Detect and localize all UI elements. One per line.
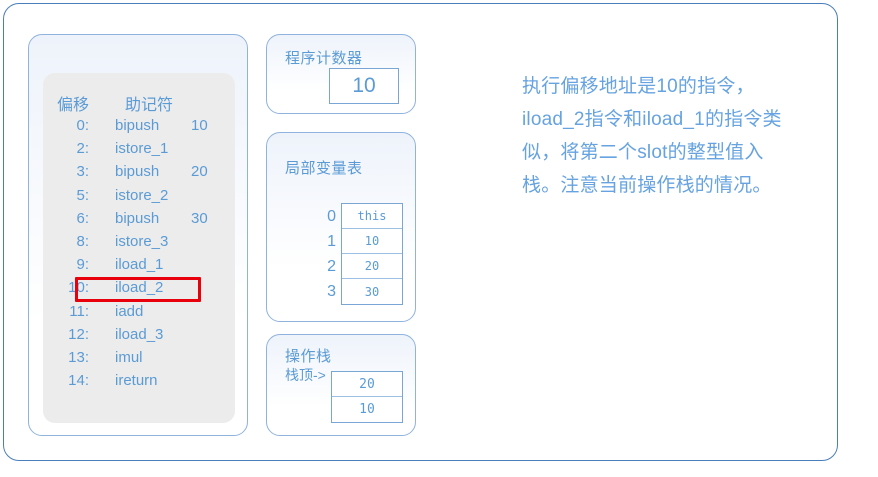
instruction-row[interactable]: 12:iload_3: [43, 326, 235, 349]
description-line: 栈。注意当前操作栈的情况。: [522, 169, 842, 202]
program-counter-panel: 程序计数器 10: [266, 34, 416, 114]
instruction-operand: 10: [191, 117, 208, 134]
instruction-mnemonic: bipush: [115, 163, 159, 180]
program-counter-title: 程序计数器: [285, 47, 363, 68]
local-variable-slot: 220: [342, 254, 402, 279]
instruction-row[interactable]: 9:iload_1: [43, 256, 235, 279]
local-variable-slot-index: 3: [316, 279, 336, 304]
local-variable-table-panel: 局部变量表 0this110220330: [266, 132, 416, 322]
bytecode-instruction-list: 偏移 助记符 0:bipush102:istore_13:bipush205:i…: [43, 73, 235, 423]
operand-stack-cell: 10: [332, 397, 402, 422]
instruction-mnemonic: istore_2: [115, 187, 168, 204]
slide-frame: 偏移 助记符 0:bipush102:istore_13:bipush205:i…: [3, 3, 838, 461]
instruction-offset: 2:: [47, 140, 89, 157]
operand-stack-cell: 20: [332, 372, 402, 397]
instruction-row[interactable]: 8:istore_3: [43, 233, 235, 256]
instruction-offset: 12:: [47, 326, 89, 343]
instruction-mnemonic: iload_2: [115, 279, 163, 296]
instruction-offset: 9:: [47, 256, 89, 273]
instruction-mnemonic: iadd: [115, 303, 143, 320]
instruction-row[interactable]: 10:iload_2: [43, 279, 235, 302]
local-variable-slot: 0this: [342, 204, 402, 229]
operand-stack-title: 操作栈: [285, 345, 332, 366]
local-variable-slot-index: 0: [316, 204, 336, 229]
bytecode-instruction-panel: 偏移 助记符 0:bipush102:istore_13:bipush205:i…: [28, 34, 248, 436]
instruction-row[interactable]: 14:ireturn: [43, 372, 235, 395]
description-line: iload_2指令和iload_1的指令类: [522, 103, 842, 136]
instruction-mnemonic: imul: [115, 349, 143, 366]
instruction-mnemonic: istore_1: [115, 140, 168, 157]
instruction-offset: 6:: [47, 210, 89, 227]
instruction-mnemonic: bipush: [115, 210, 159, 227]
instruction-row[interactable]: 5:istore_2: [43, 187, 235, 210]
operand-stack-cells: 2010: [331, 371, 403, 423]
local-variable-slot-index: 2: [316, 254, 336, 279]
instruction-offset: 14:: [47, 372, 89, 389]
instruction-offset: 10:: [47, 279, 89, 296]
local-variable-table: 0this110220330: [341, 203, 403, 305]
instruction-row[interactable]: 13:imul: [43, 349, 235, 372]
operand-stack-panel: 操作栈 栈顶-> 2010: [266, 334, 416, 436]
local-variable-slot-value: 20: [365, 259, 379, 273]
description-line: 似，将第二个slot的整型值入: [522, 136, 842, 169]
local-variable-slot: 110: [342, 229, 402, 254]
instruction-operand: 20: [191, 163, 208, 180]
local-variable-slot-value: this: [358, 209, 387, 223]
description-text: 执行偏移地址是10的指令，iload_2指令和iload_1的指令类似，将第二个…: [522, 70, 842, 202]
instruction-mnemonic: ireturn: [115, 372, 158, 389]
instruction-offset: 8:: [47, 233, 89, 250]
local-variable-slot-value: 30: [365, 285, 379, 299]
instruction-mnemonic: istore_3: [115, 233, 168, 250]
local-variable-slot-value: 10: [365, 234, 379, 248]
instruction-offset: 3:: [47, 163, 89, 180]
instruction-row[interactable]: 6:bipush30: [43, 210, 235, 233]
instruction-mnemonic: iload_3: [115, 326, 163, 343]
program-counter-value: 10: [329, 68, 399, 104]
instruction-offset: 11:: [47, 303, 89, 320]
stack-top-pointer-label: 栈顶->: [285, 365, 326, 385]
instruction-operand: 30: [191, 210, 208, 227]
instruction-row[interactable]: 3:bipush20: [43, 163, 235, 186]
instruction-mnemonic: bipush: [115, 117, 159, 134]
column-header-mnemonic: 助记符: [125, 91, 173, 115]
instruction-offset: 13:: [47, 349, 89, 366]
instruction-list-header: 偏移 助记符: [43, 91, 235, 113]
instruction-row[interactable]: 2:istore_1: [43, 140, 235, 163]
instruction-row[interactable]: 0:bipush10: [43, 117, 235, 140]
instruction-mnemonic: iload_1: [115, 256, 163, 273]
instruction-offset: 5:: [47, 187, 89, 204]
local-variable-slot-index: 1: [316, 229, 336, 254]
instruction-offset: 0:: [47, 117, 89, 134]
local-variable-slot: 330: [342, 279, 402, 304]
instruction-row[interactable]: 11:iadd: [43, 303, 235, 326]
local-variable-table-title: 局部变量表: [285, 157, 363, 178]
description-line: 执行偏移地址是10的指令，: [522, 70, 842, 103]
column-header-offset: 偏移: [57, 91, 89, 115]
